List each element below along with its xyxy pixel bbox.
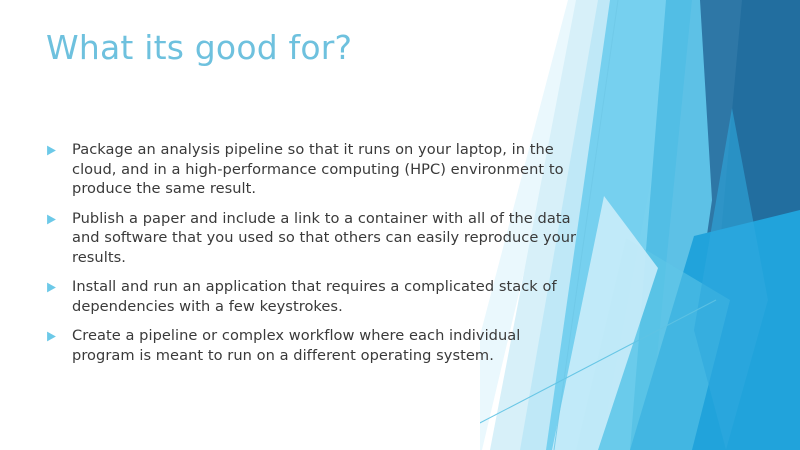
bullet-item: Publish a paper and include a link to a …	[46, 209, 586, 268]
shard-mid-blue	[630, 0, 726, 450]
slide-body-bullet-list: Package an analysis pipeline so that it …	[46, 140, 586, 365]
triangle-bullet-icon	[46, 209, 72, 225]
bullet-text: Publish a paper and include a link to a …	[72, 209, 586, 268]
bullet-text: Package an analysis pipeline so that it …	[72, 140, 586, 199]
triangle-bullet-icon	[46, 140, 72, 156]
slide-title: What its good for?	[46, 28, 566, 68]
shard-bright-cyan	[630, 210, 800, 450]
shard-cyan-sliver	[694, 108, 768, 450]
presentation-slide: What its good for? Package an analysis p…	[0, 0, 800, 450]
triangle-bullet-icon	[46, 277, 72, 293]
bullet-text: Create a pipeline or complex workflow wh…	[72, 326, 586, 365]
shard-steel-blue	[676, 0, 800, 450]
bullet-item: Install and run an application that requ…	[46, 277, 586, 316]
bullet-item: Create a pipeline or complex workflow wh…	[46, 326, 586, 365]
shard-deep-blue	[716, 0, 800, 290]
shard-overlay-light	[576, 238, 730, 450]
triangle-bullet-icon	[46, 326, 72, 342]
bullet-text: Install and run an application that requ…	[72, 277, 586, 316]
bullet-item: Package an analysis pipeline so that it …	[46, 140, 586, 199]
